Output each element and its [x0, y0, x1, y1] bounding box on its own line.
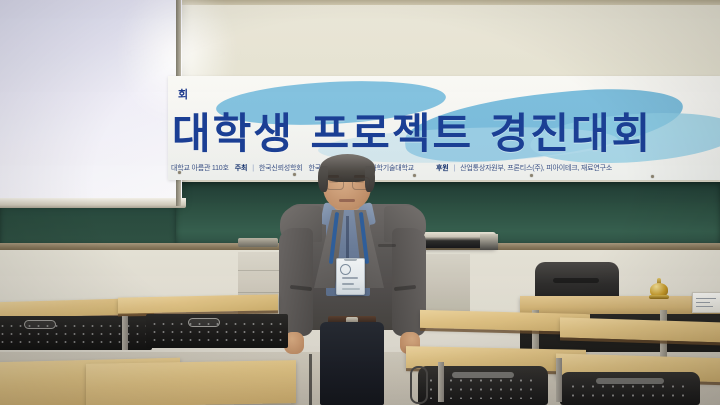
trousers: [320, 322, 384, 405]
desk-leg: [438, 362, 444, 402]
event-banner: 회 대학생 프로젝트 경진대회 대학교 아름관 110호 주최 | 한국신뢰성학…: [168, 76, 720, 180]
eye-region: [352, 177, 370, 190]
ceiling-trim: [176, 0, 720, 5]
eye: [329, 180, 338, 183]
banner-sponsor-key: 후원: [433, 163, 451, 173]
banner-pin-icon: [530, 174, 533, 177]
desk-leg: [122, 316, 128, 350]
name-badge: [336, 258, 365, 295]
photograph: 회 대학생 프로젝트 경진대회 대학교 아름관 110호 주최 | 한국신뢰성학…: [0, 0, 720, 405]
banner-sponsor-value: 산업통상자원부, 프론티스(주), 피아이테크, 재료연구소: [457, 163, 615, 173]
bell-icon[interactable]: [648, 278, 670, 300]
desk-modesty-panel: [0, 316, 152, 350]
student-desk: [86, 360, 296, 405]
student-desk: [118, 294, 278, 313]
badge-logo-icon: [340, 264, 351, 275]
mouth: [339, 199, 355, 202]
desk-modesty-panel: [146, 314, 288, 348]
eye-region: [326, 177, 344, 190]
banner-title: 대학생 프로젝트 경진대회: [172, 100, 720, 161]
banner-host-key: 주최: [232, 163, 250, 173]
name-card: [692, 292, 720, 313]
banner-subline: 대학교 아름관 110호 주최 | 한국신뢰성학회 한국신뢰성학회 · 서울과학…: [168, 158, 720, 178]
projector-light-bar-cap: [480, 234, 498, 250]
chair-armrest: [410, 366, 428, 404]
eye: [355, 180, 364, 183]
projection-screen: [0, 0, 182, 204]
board-device: [238, 238, 278, 247]
student-chair[interactable]: [560, 372, 700, 405]
desk-leg: [556, 358, 562, 402]
banner-pin-icon: [178, 171, 181, 174]
projection-screen-bottom-bar: [0, 198, 186, 208]
banner-pin-icon: [651, 175, 654, 178]
student-desk: [560, 317, 720, 342]
